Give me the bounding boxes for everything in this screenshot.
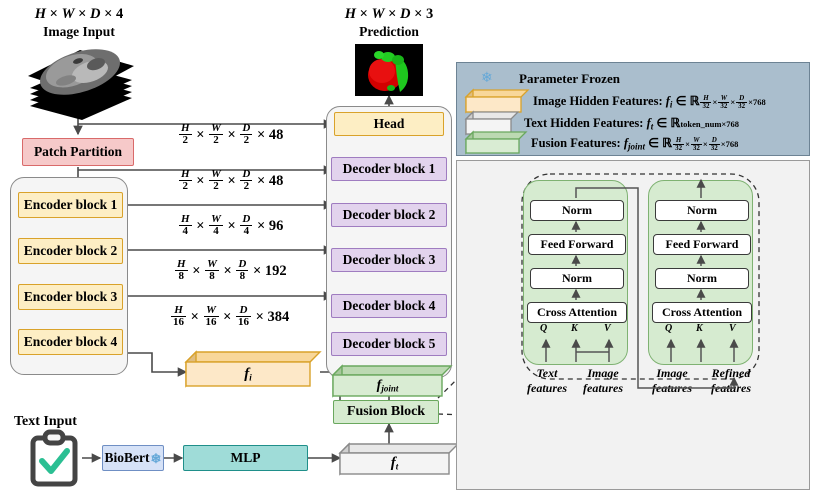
detail-connector-layer xyxy=(0,0,817,493)
